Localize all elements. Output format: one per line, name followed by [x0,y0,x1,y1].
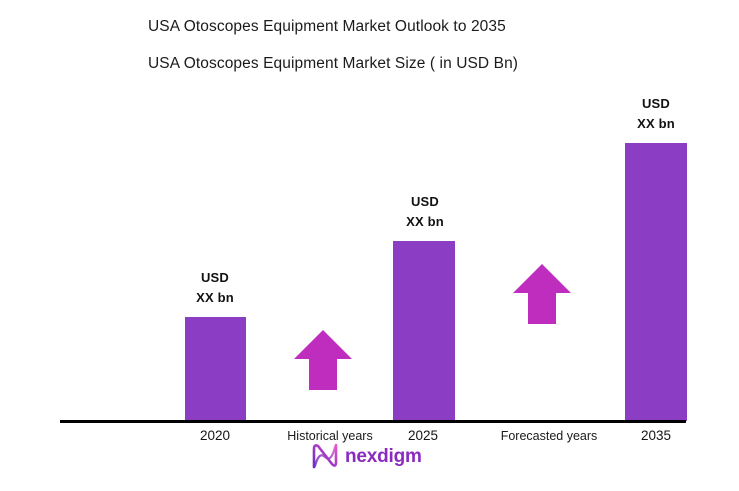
nexdigm-logo-text: nexdigm [345,447,422,466]
axis-label-2035: 2035 [596,428,716,443]
bar-label-2035-value: XX bn [601,114,711,134]
bar-label-2025: USD XX bn [370,192,480,232]
bar-label-2035-currency: USD [642,96,670,111]
bar-label-2020: USD XX bn [160,268,270,308]
growth-arrow-forecast-icon [511,262,573,326]
bar-2025 [393,241,455,421]
bar-label-2035: USD XX bn [601,94,711,134]
bar-2020 [185,317,246,421]
bar-label-2025-currency: USD [411,194,439,209]
bar-label-2020-value: XX bn [160,288,270,308]
chart-canvas: USA Otoscopes Equipment Market Outlook t… [0,0,739,491]
x-axis-line [60,420,686,423]
bar-label-2020-currency: USD [201,270,229,285]
plot-area: USD XX bn USD XX bn USD XX bn 2020 Histo… [0,0,739,491]
wave-n-icon [310,442,340,470]
bar-2035 [625,143,687,421]
bar-label-2025-value: XX bn [370,212,480,232]
growth-arrow-historical-icon [292,328,354,392]
nexdigm-logo: nexdigm [310,442,422,470]
